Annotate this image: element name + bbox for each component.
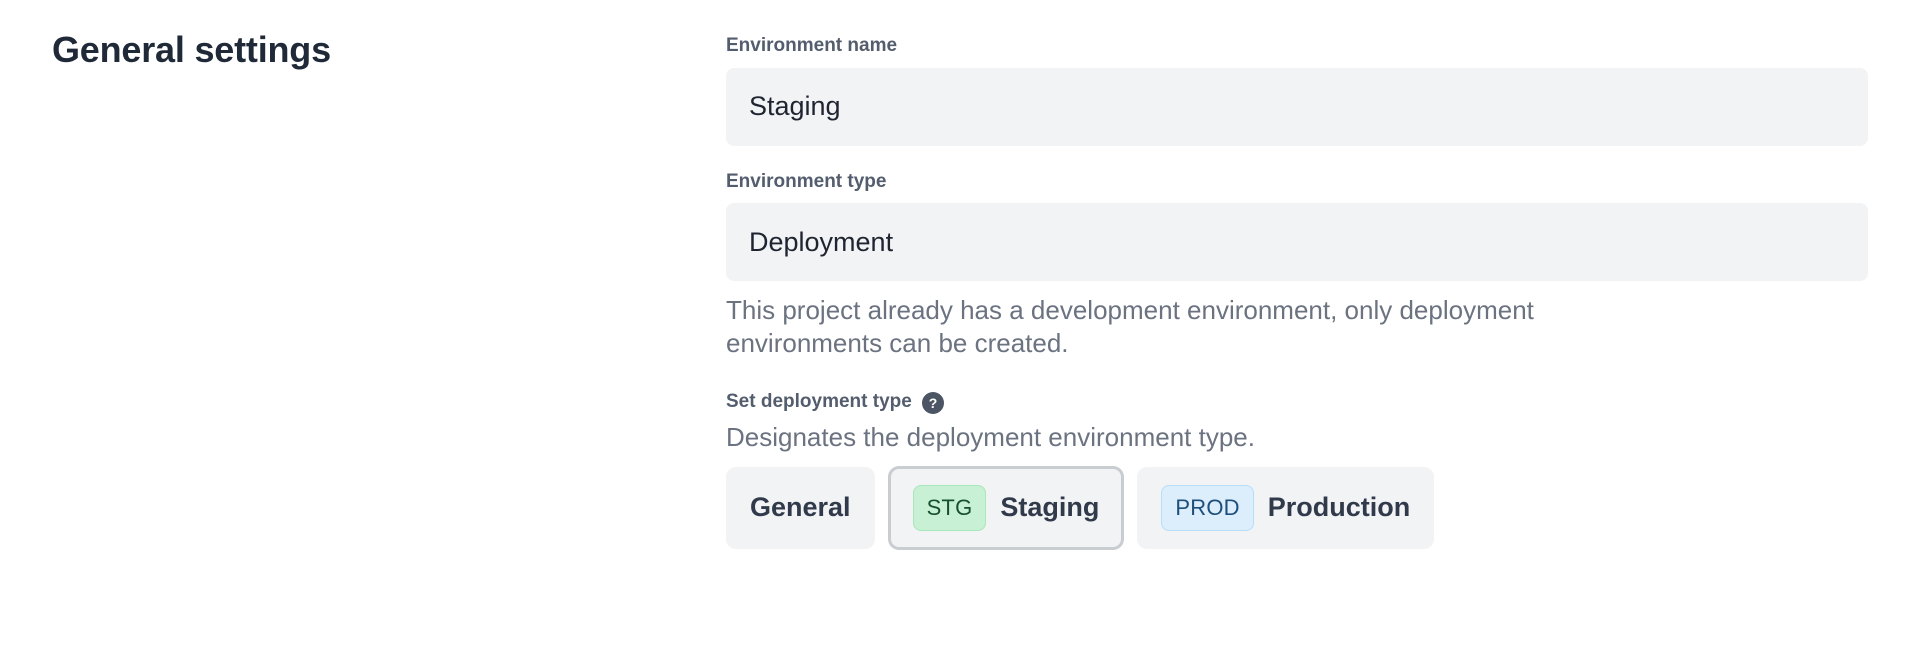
deployment-type-option-staging[interactable]: STG Staging	[889, 467, 1124, 549]
environment-name-input[interactable]	[726, 68, 1868, 146]
question-mark-circle-icon[interactable]: ?	[922, 392, 944, 414]
deployment-type-label: Set deployment type	[726, 390, 912, 415]
option-label-staging: Staging	[1000, 494, 1099, 521]
general-settings-page: General settings Environment name Enviro…	[0, 0, 1916, 652]
badge-prod: PROD	[1161, 485, 1253, 531]
settings-form: Environment name Environment type This p…	[726, 34, 1868, 549]
deployment-type-description: Designates the deployment environment ty…	[726, 421, 1868, 455]
option-label-production: Production	[1268, 494, 1411, 521]
svg-text:?: ?	[929, 395, 938, 411]
deployment-type-section: Set deployment type ? Designates the dep…	[726, 390, 1868, 548]
option-label-general: General	[750, 494, 851, 521]
deployment-type-option-general[interactable]: General	[726, 467, 875, 549]
environment-type-label: Environment type	[726, 170, 1868, 195]
environment-type-input[interactable]	[726, 203, 1868, 281]
deployment-type-option-group: General STG Staging PROD Production	[726, 467, 1868, 549]
page-title: General settings	[52, 26, 331, 75]
environment-name-field-group: Environment name	[726, 34, 1868, 146]
deployment-type-option-production[interactable]: PROD Production	[1137, 467, 1434, 549]
badge-stg: STG	[913, 485, 987, 531]
deployment-type-label-row: Set deployment type ?	[726, 390, 1868, 415]
environment-name-label: Environment name	[726, 34, 1868, 59]
environment-type-field-group: Environment type This project already ha…	[726, 170, 1868, 361]
environment-type-help-text: This project already has a development e…	[726, 294, 1631, 360]
